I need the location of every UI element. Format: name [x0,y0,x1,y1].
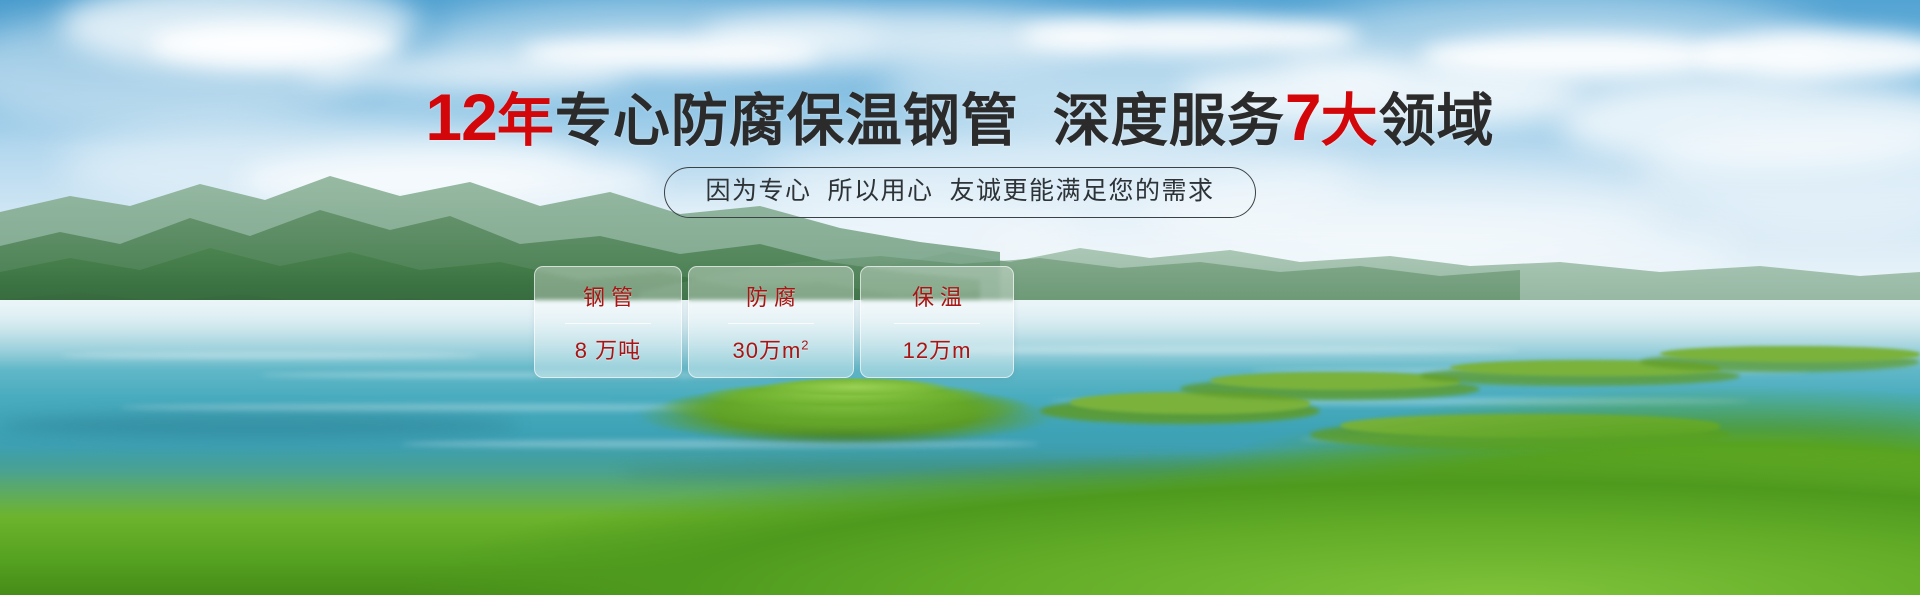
headline-years-number: 12 [425,80,496,154]
stat-value-steel-pipe: 8 万吨 [575,333,641,365]
subtitle-part-2: 所以用心 [827,177,933,205]
card-divider [728,323,814,324]
headline-segment-service: 深度服务 [1053,89,1285,153]
card-divider [894,323,980,324]
subtitle-pill: 因为专心所以用心友诚更能满足您的需求 [664,167,1255,218]
grass-foreground [0,445,1920,595]
stat-unit-anticorrosion: 万m [759,338,801,363]
stat-number-steel-pipe: 8 [575,338,588,363]
stat-unit-steel-pipe: 万吨 [595,338,641,363]
hero-banner: 12年专心防腐保温钢管深度服务7大领域 因为专心所以用心友诚更能满足您的需求 钢… [0,0,1920,595]
subtitle-container: 因为专心所以用心友诚更能满足您的需求 [0,167,1920,218]
stat-value-anticorrosion: 30万m2 [732,333,809,365]
subtitle-part-1: 因为专心 [705,177,811,205]
page-title: 12年专心防腐保温钢管深度服务7大领域 [0,84,1920,150]
card-divider [565,323,651,324]
headline-segment-main: 专心防腐保温钢管 [555,89,1019,153]
headline-years-unit: 年 [497,89,555,153]
headline-fields-number: 7 [1285,80,1321,154]
stat-unit-insulation: 万m [929,338,971,363]
stat-card-anticorrosion[interactable]: 防腐 30万m2 [688,266,854,378]
stat-number-insulation: 12 [903,338,929,363]
stat-value-insulation: 12万m [903,333,972,365]
stat-card-steel-pipe[interactable]: 钢管 8 万吨 [534,266,682,378]
stat-label-anticorrosion: 防腐 [740,280,802,312]
stat-card-insulation[interactable]: 保温 12万m [860,266,1014,378]
subtitle-part-3: 友诚更能满足您的需求 [950,177,1215,205]
stat-card-group: 钢管 8 万吨 防腐 30万m2 保温 12万m [534,266,1014,378]
stat-superscript-anticorrosion: 2 [801,337,809,352]
stat-label-steel-pipe: 钢管 [577,280,639,312]
stat-label-insulation: 保温 [906,280,968,312]
stat-number-anticorrosion: 30 [732,338,758,363]
headline-fields-unit: 大 [1321,89,1379,153]
headline-segment-domain: 领域 [1379,89,1495,153]
